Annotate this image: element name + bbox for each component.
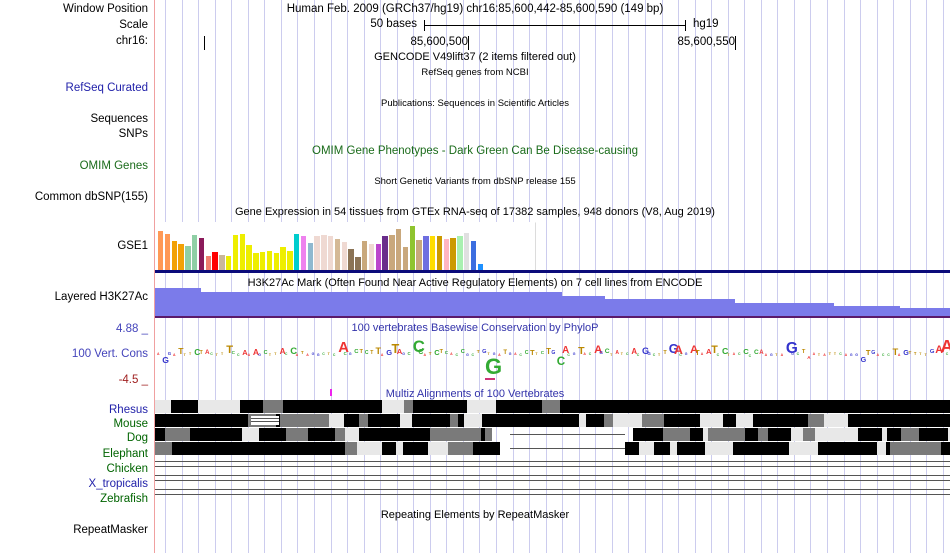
track-label-repeatmasker[interactable]: RepeatMasker	[73, 524, 148, 536]
track-label-snps[interactable]: SNPs	[119, 128, 148, 140]
track-label-chicken[interactable]: Chicken	[106, 463, 148, 475]
track-label-common-dbsnp[interactable]: Common dbSNP(155)	[35, 191, 148, 203]
track-label-chrom[interactable]: chr16:	[116, 35, 148, 47]
track-label-x-tropicalis[interactable]: X_tropicalis	[89, 478, 148, 490]
ruler-tick	[735, 36, 736, 50]
track-label-zebrafish[interactable]: Zebrafish	[100, 493, 148, 505]
panel-divider	[154, 0, 155, 553]
ruler-label: 85,600,500	[398, 36, 468, 48]
track-label-refseq-curated[interactable]: RefSeq Curated	[66, 82, 148, 94]
ruler-tick	[204, 36, 205, 50]
track-label-dog[interactable]: Dog	[127, 432, 148, 444]
track-label-omim-genes[interactable]: OMIM Genes	[80, 160, 148, 172]
track-label-cons-min[interactable]: -4.5 _	[119, 374, 148, 386]
genome-browser-window[interactable]: Window PositionScalechr16:RefSeq Curated…	[0, 0, 950, 553]
ruler-tick	[468, 36, 469, 50]
track-label-sequences[interactable]: Sequences	[90, 113, 148, 125]
track-label-layered-h3k27ac[interactable]: Layered H3K27Ac	[55, 291, 148, 303]
ruler-label: 85,600,550	[665, 36, 735, 48]
track-label-elephant[interactable]: Elephant	[103, 448, 148, 460]
scale-bar-graphic	[424, 25, 686, 26]
track-label-rhesus[interactable]: Rhesus	[109, 404, 148, 416]
track-label-cons-max[interactable]: 4.88 _	[116, 323, 148, 335]
assembly-label: hg19	[693, 18, 719, 30]
track-label-gse1[interactable]: GSE1	[117, 240, 148, 252]
track-label-window-position[interactable]: Window Position	[63, 3, 148, 15]
track-label-mouse[interactable]: Mouse	[113, 418, 148, 430]
track-label-100-vert-cons[interactable]: 100 Vert. Cons	[72, 348, 148, 360]
track-label-scale[interactable]: Scale	[119, 19, 148, 31]
multiz-top-marker	[330, 389, 332, 396]
track-label-panel[interactable]: Window PositionScalechr16:RefSeq Curated…	[0, 0, 155, 553]
